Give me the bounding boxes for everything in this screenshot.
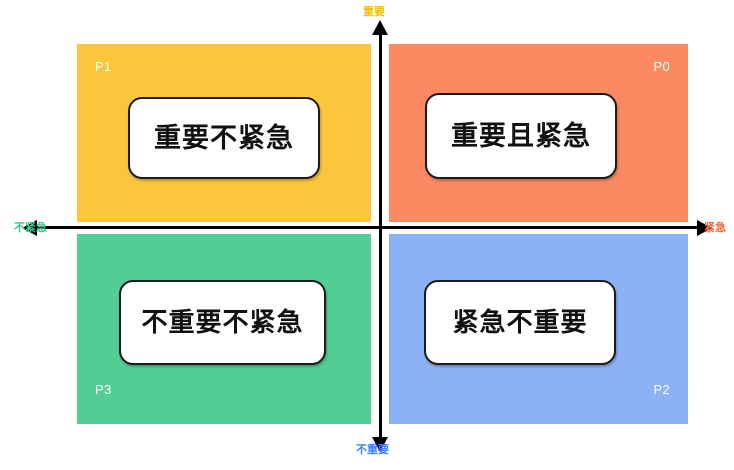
quadrant-p0-card[interactable]: 重要且紧急 bbox=[425, 93, 617, 179]
quadrant-p2-card[interactable]: 紧急不重要 bbox=[424, 280, 616, 365]
axis-label-not-urgent: 不紧急 bbox=[14, 222, 47, 233]
quadrant-p1-card-text: 重要不紧急 bbox=[154, 125, 294, 152]
quadrant-p0-priority-label: P0 bbox=[653, 60, 670, 73]
priority-matrix-diagram: P1 P0 P3 P2 重要不紧急 重要且紧急 不重要不紧急 紧急不重要 重要 … bbox=[0, 0, 734, 470]
axis-label-urgent: 紧急 bbox=[704, 222, 726, 233]
quadrant-p3-priority-label: P3 bbox=[95, 383, 112, 396]
quadrant-p1-card[interactable]: 重要不紧急 bbox=[128, 97, 320, 179]
urgency-axis-line bbox=[32, 226, 702, 229]
quadrant-p2-card-text: 紧急不重要 bbox=[452, 310, 587, 336]
quadrant-p3-card-text: 不重要不紧急 bbox=[141, 310, 303, 336]
axis-label-important: 重要 bbox=[363, 6, 385, 17]
importance-axis-line bbox=[379, 30, 382, 442]
quadrant-p2-priority-label: P2 bbox=[653, 383, 670, 396]
axis-label-not-important: 不重要 bbox=[356, 444, 389, 455]
arrow-up-icon bbox=[372, 20, 388, 35]
quadrant-p1-priority-label: P1 bbox=[95, 60, 112, 73]
quadrant-p0-card-text: 重要且紧急 bbox=[451, 123, 591, 150]
quadrant-p3-card[interactable]: 不重要不紧急 bbox=[119, 280, 326, 365]
